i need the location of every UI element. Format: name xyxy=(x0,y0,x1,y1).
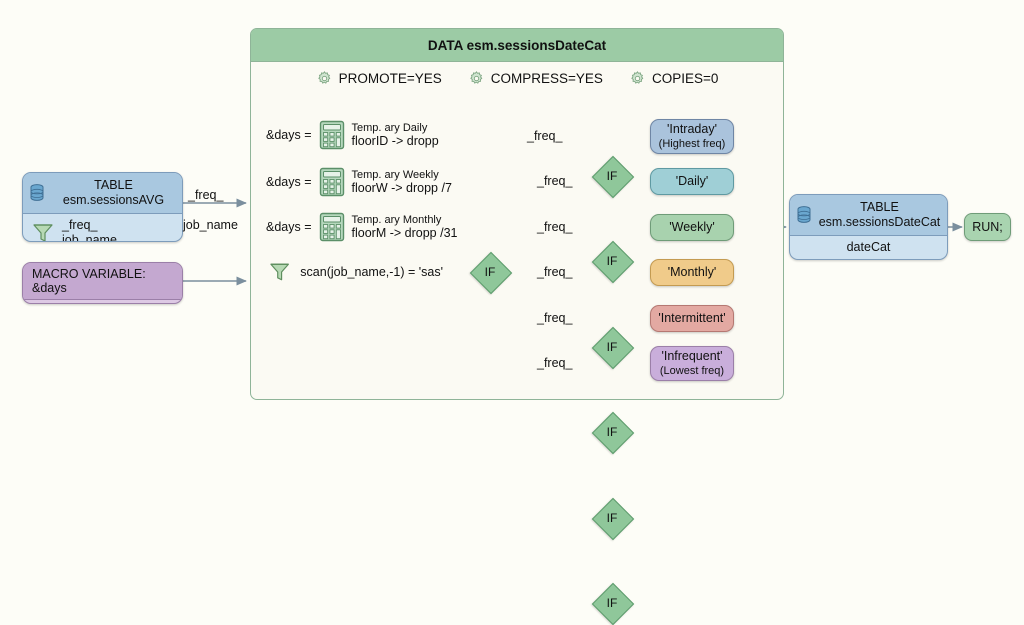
category-infrequent[interactable]: 'Infrequent' (Lowest freq) xyxy=(650,346,734,381)
branch-edge-label: _freq_ xyxy=(537,174,572,188)
assignment-comment: Temp. ary Weekly xyxy=(352,169,452,181)
branch-edge-label: _freq_ xyxy=(537,356,572,370)
category-sublabel: (Highest freq) xyxy=(659,138,726,150)
branch-if-label: IF xyxy=(592,583,632,623)
assignment-comment: Temp. ary Monthly xyxy=(352,214,458,226)
filter-expression: scan(job_name,-1) = 'sas' xyxy=(300,265,443,279)
input-table-title-line2: esm.sessionsAVG xyxy=(63,193,164,207)
branch-edge-label: _freq_ xyxy=(527,129,562,143)
output-table-header: TABLEesm.sessionsDateCat xyxy=(790,195,947,236)
category-daily[interactable]: 'Daily' xyxy=(650,168,734,195)
panel-options-row: PROMOTE=YES COMPRESS=YES COPIES=0 xyxy=(251,62,783,94)
macro-variable-card[interactable]: MACRO VARIABLE: &days xyxy=(22,262,183,304)
calculator-icon xyxy=(319,167,345,197)
option-compress-label: COMPRESS=YES xyxy=(491,71,603,86)
category-label: 'Intraday' xyxy=(667,122,717,136)
category-intermittent[interactable]: 'Intermittent' xyxy=(650,305,734,332)
input-table-title: TABLEesm.sessionsAVG xyxy=(51,178,176,208)
category-label: 'Infrequent' xyxy=(661,349,722,363)
assignment-lhs: &days = xyxy=(266,220,312,234)
branch-if-label: IF xyxy=(592,498,632,538)
calculator-icon xyxy=(319,212,345,242)
macro-variable-header: MACRO VARIABLE: &days xyxy=(23,263,182,300)
branch-if-label: IF xyxy=(592,412,632,452)
branch-if-decision[interactable]: IF xyxy=(592,412,632,452)
branch-edge-label: _freq_ xyxy=(537,220,572,234)
edge-label-jobname: job_name xyxy=(183,218,238,232)
panel-header: DATA esm.sessionsDateCat xyxy=(251,29,783,62)
assignment-expression: floorW -> dropp /7 xyxy=(352,181,452,195)
branch-edge-label: _freq_ xyxy=(537,265,572,279)
category-label: 'Intermittent' xyxy=(658,311,725,326)
category-monthly[interactable]: 'Monthly' xyxy=(650,259,734,286)
input-table-card[interactable]: TABLEesm.sessionsAVG _freq_ job_name xyxy=(22,172,183,242)
edge-label-freq: _freq_ xyxy=(188,188,223,202)
branch-if-decision[interactable]: IF xyxy=(592,241,632,281)
macro-variable-label: MACRO VARIABLE: &days xyxy=(32,267,146,295)
category-intraday[interactable]: 'Intraday' (Highest freq) xyxy=(650,119,734,154)
branch-if-decision[interactable]: IF xyxy=(592,156,632,196)
run-step[interactable]: RUN; xyxy=(964,213,1011,241)
branch-if-label: IF xyxy=(592,156,632,196)
category-label: 'Monthly' xyxy=(668,265,717,280)
branch-if-label: IF xyxy=(592,241,632,281)
gear-icon xyxy=(468,70,485,87)
branch-if-decision[interactable]: IF xyxy=(592,327,632,367)
branch-edge-label: _freq_ xyxy=(537,311,572,325)
funnel-icon xyxy=(268,257,291,287)
option-copies-label: COPIES=0 xyxy=(652,71,718,86)
branch-if-decision[interactable]: IF xyxy=(592,498,632,538)
assignment-expression: floorID -> dropp xyxy=(352,134,439,148)
output-table-title-line2: esm.sessionsDateCat xyxy=(819,215,941,229)
filter-step-row[interactable]: scan(job_name,-1) = 'sas' xyxy=(268,256,443,288)
funnel-icon xyxy=(31,221,55,242)
category-label: 'Weekly' xyxy=(669,220,715,235)
option-promote[interactable]: PROMOTE=YES xyxy=(316,70,442,87)
calculator-icon xyxy=(319,120,345,150)
category-weekly[interactable]: 'Weekly' xyxy=(650,214,734,241)
assignment-row-daily[interactable]: &days = Temp. ary Daily floorID -> dropp xyxy=(266,116,466,154)
macro-variable-body xyxy=(23,300,182,304)
gear-icon xyxy=(629,70,646,87)
option-compress[interactable]: COMPRESS=YES xyxy=(468,70,603,87)
option-copies[interactable]: COPIES=0 xyxy=(629,70,718,87)
category-sublabel: (Lowest freq) xyxy=(660,365,724,377)
output-table-card[interactable]: TABLEesm.sessionsDateCat dateCat xyxy=(789,194,948,260)
assignment-lhs: &days = xyxy=(266,175,312,189)
run-label: RUN; xyxy=(972,220,1003,234)
category-label: 'Daily' xyxy=(676,174,709,189)
assignment-row-weekly[interactable]: &days = Temp. ary Weekly floorW -> dropp… xyxy=(266,163,481,201)
branch-if-decision[interactable]: IF xyxy=(592,583,632,623)
filter-if-label: IF xyxy=(470,252,510,292)
output-table-title-line1: TABLE xyxy=(860,200,899,214)
output-table-columns-row: dateCat xyxy=(790,236,947,259)
input-table-header: TABLEesm.sessionsAVG xyxy=(23,173,182,214)
branch-if-label: IF xyxy=(592,327,632,367)
assignment-lhs: &days = xyxy=(266,128,312,142)
input-table-columns-row: _freq_ job_name xyxy=(23,214,182,242)
output-table-column: dateCat xyxy=(847,240,891,255)
filter-if-decision[interactable]: IF xyxy=(470,252,510,292)
panel-header-label: DATA esm.sessionsDateCat xyxy=(428,38,606,53)
option-promote-label: PROMOTE=YES xyxy=(339,71,442,86)
assignment-row-monthly[interactable]: &days = Temp. ary Monthly floorM -> drop… xyxy=(266,208,486,246)
diagram-canvas: DATA esm.sessionsDateCat PROMOTE=YES COM… xyxy=(0,0,1024,434)
database-icon xyxy=(29,184,45,202)
input-table-title-line1: TABLE xyxy=(94,178,133,192)
gear-icon xyxy=(316,70,333,87)
output-table-title: TABLEesm.sessionsDateCat xyxy=(818,200,941,230)
assignment-expression: floorM -> dropp /31 xyxy=(352,226,458,240)
input-table-columns: _freq_ job_name xyxy=(62,218,117,242)
assignment-comment: Temp. ary Daily xyxy=(352,122,439,134)
database-icon xyxy=(796,206,812,224)
